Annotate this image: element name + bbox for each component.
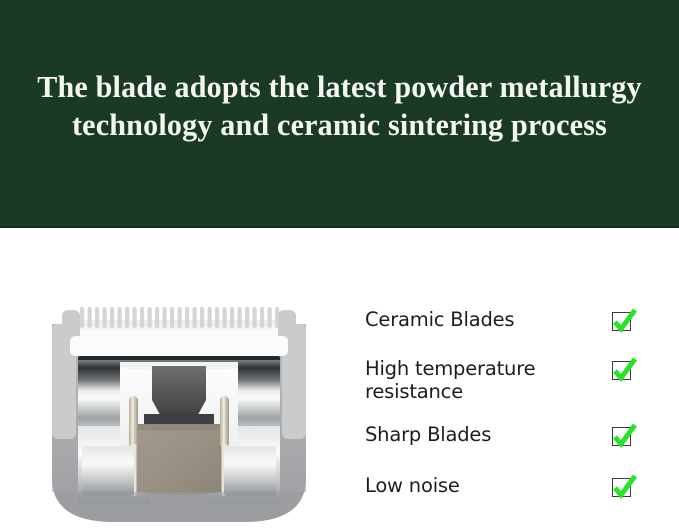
checkbox-checked[interactable] xyxy=(611,309,637,335)
clipper-blade-illustration xyxy=(44,296,314,530)
check-icon xyxy=(611,309,637,335)
feature-label: Low noise xyxy=(365,474,460,497)
header-banner: The blade adopts the latest powder metal… xyxy=(0,0,679,228)
content-area: Ceramic Blades High temperature resistan… xyxy=(0,228,679,530)
list-item: High temperature resistance xyxy=(365,357,645,403)
check-icon xyxy=(611,475,637,501)
list-item: Ceramic Blades xyxy=(365,308,645,335)
banner-headline: The blade adopts the latest powder metal… xyxy=(10,68,669,144)
checkbox-checked[interactable] xyxy=(611,475,637,501)
feature-label: Ceramic Blades xyxy=(365,308,514,331)
feature-label: High temperature resistance xyxy=(365,357,535,403)
feature-list: Ceramic Blades High temperature resistan… xyxy=(365,308,645,501)
list-item: Sharp Blades xyxy=(365,423,645,450)
check-icon xyxy=(611,424,637,450)
check-icon xyxy=(611,358,637,384)
checkbox-checked[interactable] xyxy=(611,358,637,384)
feature-label: Sharp Blades xyxy=(365,423,491,446)
clipper-blade-image xyxy=(44,296,314,530)
list-item: Low noise xyxy=(365,474,645,501)
checkbox-checked[interactable] xyxy=(611,424,637,450)
